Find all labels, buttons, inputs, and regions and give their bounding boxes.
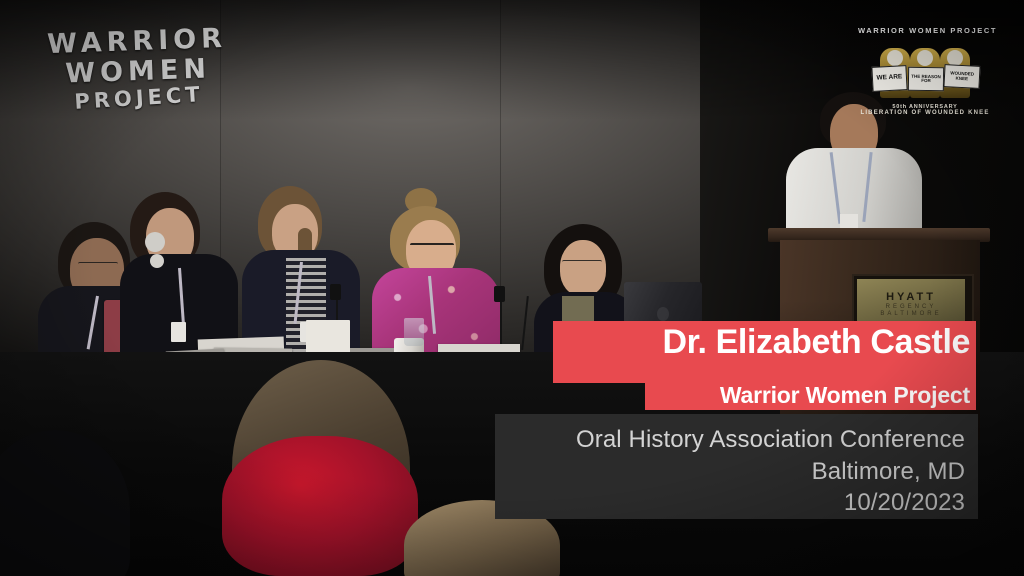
- plaque-line-baltimore: BALTIMORE: [880, 311, 941, 317]
- plaque-line-hyatt: HYATT: [886, 291, 936, 303]
- logo-title: WARRIOR WOMEN PROJECT: [858, 26, 992, 35]
- name-tent-card: [306, 320, 350, 356]
- warrior-women-project-watermark: WARRIOR WOMEN PROJECT: [47, 25, 230, 113]
- video-frame: HYATT REGENCY BALTIMORE ON THE INNER HAR…: [0, 0, 1024, 576]
- laptop-logo: [657, 307, 669, 321]
- logo-figure-head: [917, 50, 933, 66]
- speaker-organization: Warrior Women Project: [645, 384, 970, 407]
- logo-sign-we-are: WE ARE: [871, 65, 907, 92]
- microphone: [494, 286, 505, 302]
- event-details: Oral History Association Conference Balt…: [495, 424, 965, 519]
- plaque-line-regency: REGENCY: [886, 304, 937, 310]
- speaker-name: Dr. Elizabeth Castle: [553, 325, 970, 359]
- necklace: [150, 254, 164, 268]
- logo-figure-head: [887, 50, 903, 66]
- event-location: Baltimore, MD: [495, 456, 965, 488]
- logo-subtitle-liberation: LIBERATION OF WOUNDED KNEE: [858, 110, 992, 116]
- earring: [145, 232, 165, 252]
- logo-sign-wounded-knee: WOUNDED KNEE: [943, 64, 980, 89]
- logo-illustration: WE ARE THE REASON FOR WOUNDED KNEE: [858, 40, 992, 102]
- event-name: Oral History Association Conference: [495, 424, 965, 456]
- audience-head-red-hair: [222, 436, 418, 576]
- microphone: [330, 284, 341, 300]
- logo-sign-the-reason-for: THE REASON FOR: [908, 67, 944, 92]
- warrior-women-project-logo: WARRIOR WOMEN PROJECT WE ARE THE REASON …: [858, 26, 992, 130]
- water-glass: [404, 318, 424, 346]
- event-date: 10/20/2023: [495, 487, 965, 519]
